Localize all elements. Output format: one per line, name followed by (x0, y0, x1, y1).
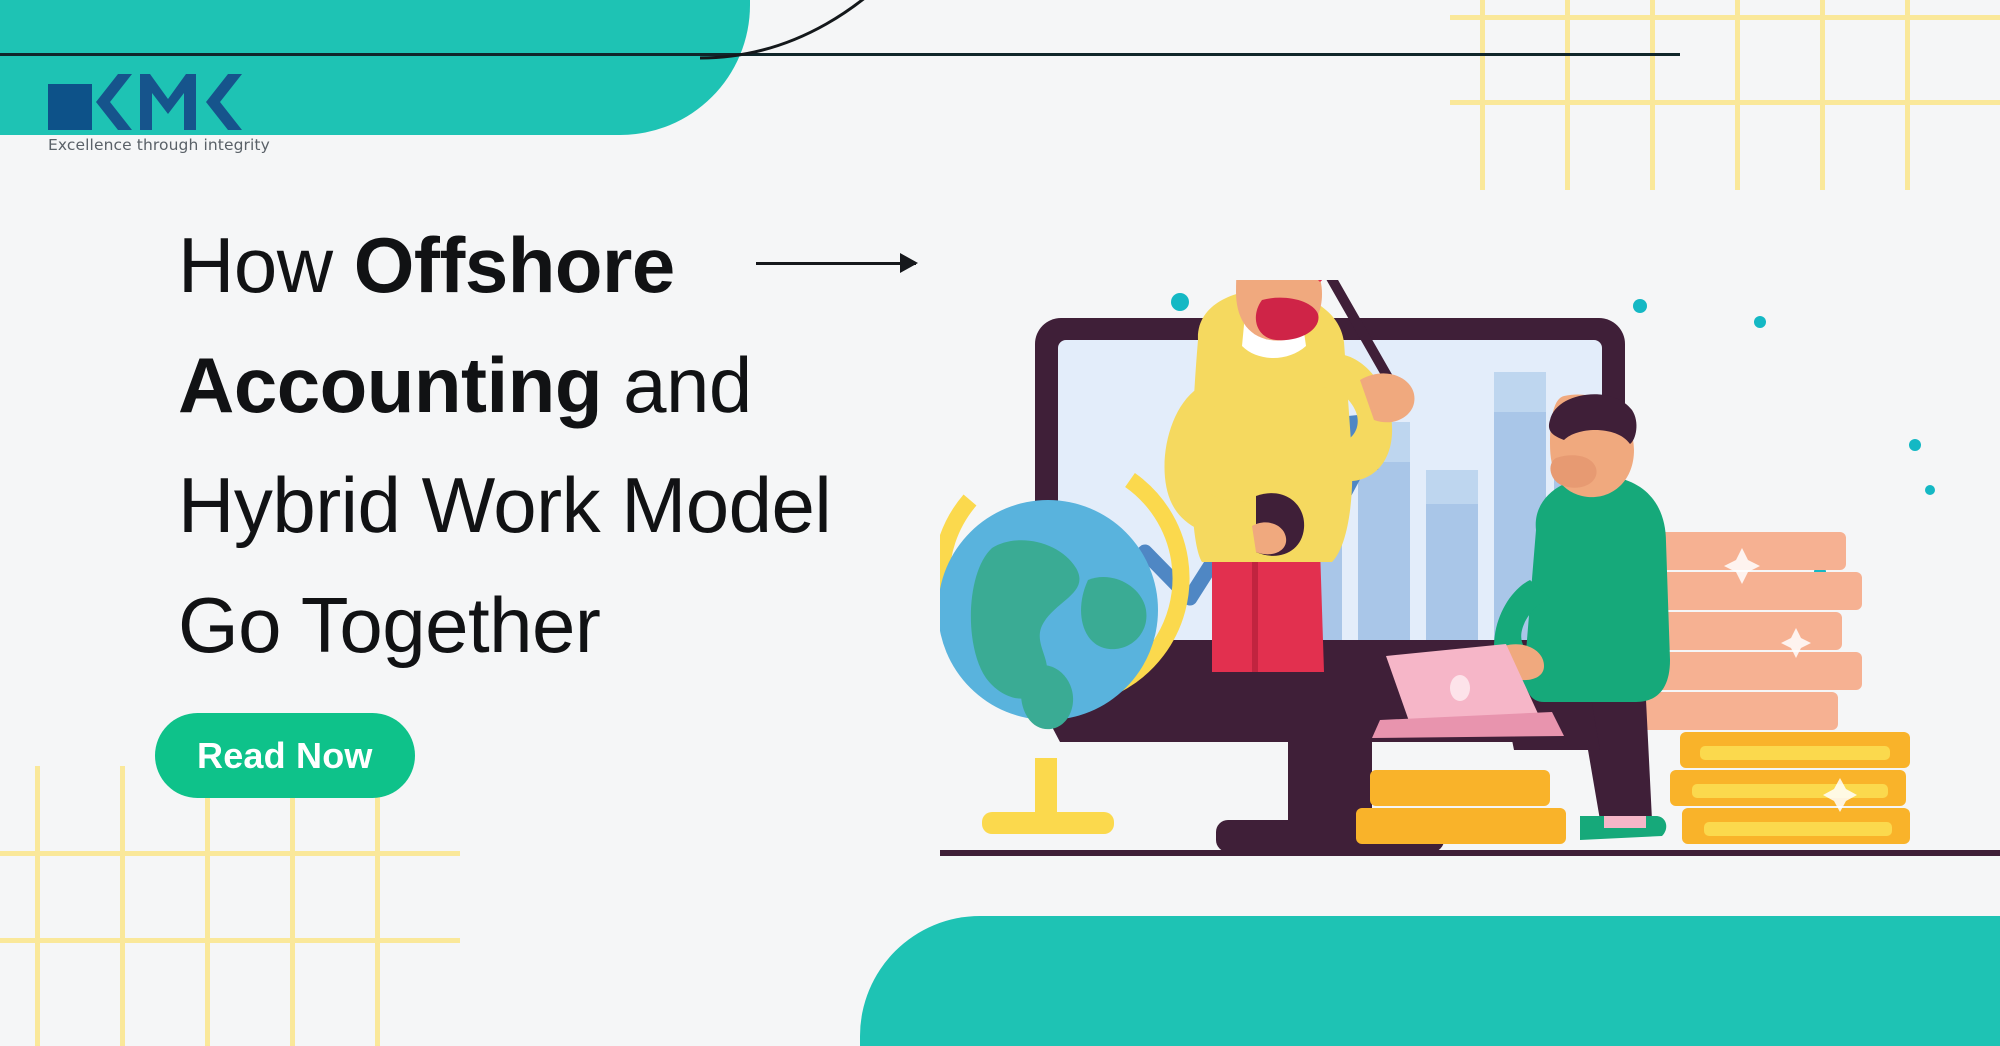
hero-illustration (940, 280, 2000, 890)
decor-grid-top-right (1450, 0, 2000, 190)
headline-line-1-bold: Offshore (354, 221, 675, 309)
decor-arrow-line (756, 262, 916, 265)
brand-logo[interactable]: Excellence through integrity (48, 78, 270, 154)
decor-curve-top-right (700, 0, 1040, 70)
logo-square-icon (48, 84, 92, 130)
headline-line-4: Go Together (178, 581, 600, 669)
decor-grid-bottom-left (0, 766, 500, 1046)
read-now-button[interactable]: Read Now (155, 713, 415, 798)
page-title: How Offshore Accounting and Hybrid Work … (178, 205, 1008, 685)
headline-line-3: Hybrid Work Model (178, 461, 831, 549)
decor-arrow-head-icon (900, 253, 918, 273)
brand-tagline: Excellence through integrity (48, 136, 270, 154)
banner-stage: Excellence through integrity How Offshor… (0, 0, 2000, 1046)
headline-line-2-bold: Accounting (178, 341, 602, 429)
headline-line-1-normal: How (178, 221, 354, 309)
headline-line-2-normal: and (602, 341, 752, 429)
decor-teal-shape-bottom (860, 916, 2000, 1046)
kmk-wordmark-icon (96, 74, 246, 130)
